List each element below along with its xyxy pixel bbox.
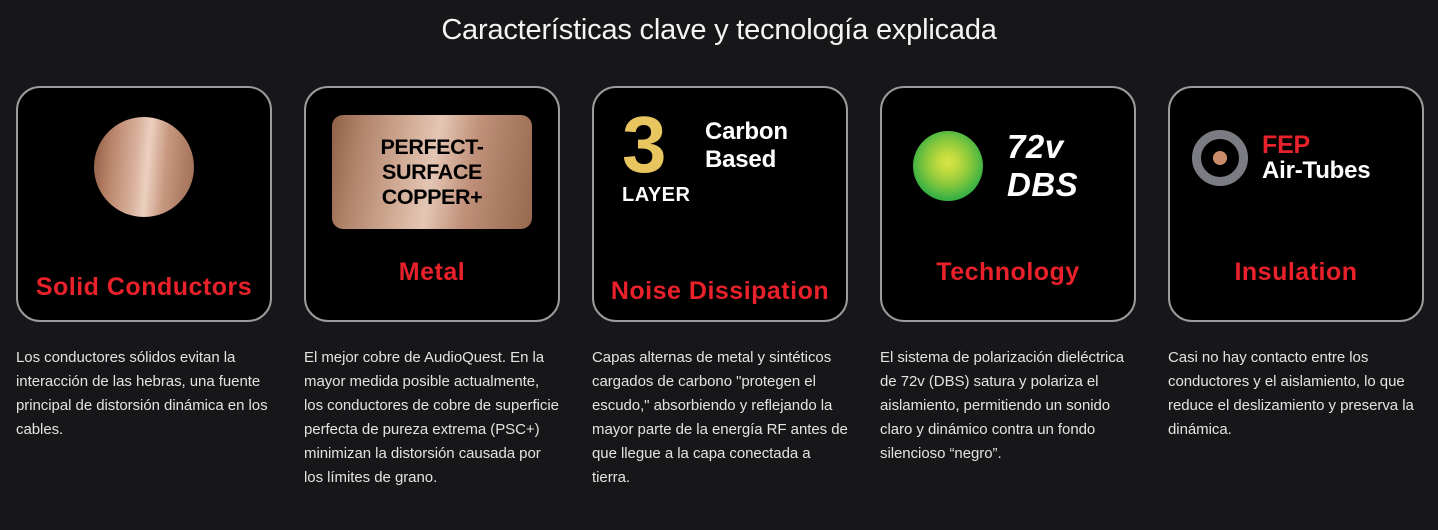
fep-logo-group: FEP Air-Tubes (1192, 130, 1370, 186)
feature-card-dbs-technology[interactable]: 72v DBS Technology (880, 86, 1136, 322)
feature-description-solid-conductors: Los conductores sólidos evitan la intera… (16, 346, 272, 442)
card-label-metal: Metal (306, 258, 558, 287)
page-title: Características clave y tecnología expli… (0, 14, 1438, 47)
fep-headline-red: FEP (1262, 132, 1370, 158)
feature-description-perfect-surface-copper: El mejor cobre de AudioQuest. En la mayo… (304, 346, 560, 490)
dbs-headline: 72v DBS (1007, 128, 1078, 204)
feature-column-perfect-surface-copper: PERFECT- SURFACE COPPER+ Metal El mejor … (304, 86, 560, 490)
feature-column-noise-dissipation: 3 LAYER Carbon Based Noise Dissipation C… (592, 86, 848, 490)
dbs-logo-group: 72v DBS (913, 128, 1078, 204)
card-label-technology: Technology (882, 258, 1134, 287)
card-label-insulation: Insulation (1170, 258, 1422, 287)
fep-headline-white: Air-Tubes (1262, 158, 1370, 184)
feature-column-dbs-technology: 72v DBS Technology El sistema de polariz… (880, 86, 1136, 490)
feature-description-dbs-technology: El sistema de polarización dieléctrica d… (880, 346, 1136, 466)
coaxial-ring-icon (1192, 130, 1248, 186)
layer-count-number: 3 (622, 110, 665, 180)
feature-column-fep-insulation: FEP Air-Tubes Insulation Casi no hay con… (1168, 86, 1424, 490)
card-label-noise-dissipation: Noise Dissipation (594, 277, 846, 306)
feature-card-fep-insulation[interactable]: FEP Air-Tubes Insulation (1168, 86, 1424, 322)
plaque-text: PERFECT- SURFACE COPPER+ (380, 135, 483, 210)
three-layer-icon: 3 LAYER Carbon Based (622, 110, 788, 206)
feature-card-noise-dissipation[interactable]: 3 LAYER Carbon Based Noise Dissipation (592, 86, 848, 322)
copper-disc-icon (94, 117, 194, 217)
green-sphere-icon (913, 131, 983, 201)
copper-plaque-icon: PERFECT- SURFACE COPPER+ (332, 115, 532, 229)
three-layer-number-block: 3 LAYER (622, 110, 692, 206)
feature-section: Características clave y tecnología expli… (0, 0, 1438, 530)
feature-description-fep-insulation: Casi no hay contacto entre los conductor… (1168, 346, 1424, 442)
coaxial-core-icon (1213, 151, 1227, 165)
feature-description-noise-dissipation: Capas alternas de metal y sintéticos car… (592, 346, 848, 490)
feature-column-solid-conductors: Solid Conductors Los conductores sólidos… (16, 86, 272, 490)
fep-headline-group: FEP Air-Tubes (1262, 132, 1370, 184)
feature-card-solid-conductors[interactable]: Solid Conductors (16, 86, 272, 322)
carbon-based-headline: Carbon Based (705, 118, 788, 174)
feature-card-perfect-surface-copper[interactable]: PERFECT- SURFACE COPPER+ Metal (304, 86, 560, 322)
feature-card-grid: Solid Conductors Los conductores sólidos… (16, 86, 1422, 490)
layer-count-caption: LAYER (622, 184, 690, 206)
card-label-solid-conductors: Solid Conductors (18, 273, 270, 302)
